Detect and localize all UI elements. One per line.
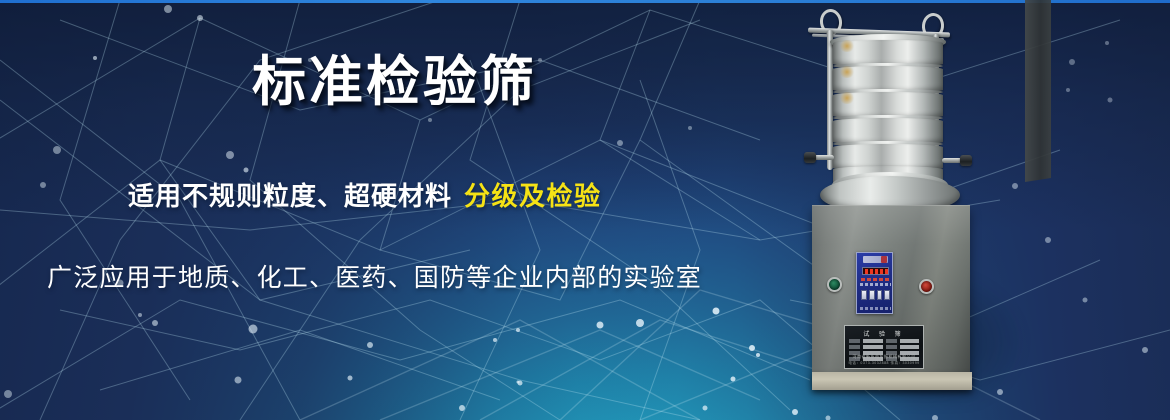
subline-accent-text: 分级及检验 — [464, 181, 602, 211]
clamp-knob-left — [804, 152, 834, 163]
banner-headline: 标准检验筛 — [252, 52, 537, 112]
nameplate-title: 试 验 筛 — [845, 329, 923, 338]
banner-copy: 标准检验筛 适用不规则粒度、超硬材料分级及检验 广泛应用于地质、化工、医药、国防… — [0, 0, 790, 420]
panel-button-row — [861, 290, 890, 300]
sieve-tray-stack — [833, 40, 943, 190]
machine-body-side — [1025, 0, 1051, 182]
indicator-lamp-green-icon — [827, 277, 842, 292]
banner-tagline: 广泛应用于地质、化工、医药、国防等企业内部的实验室 — [47, 258, 702, 294]
sieve-tray — [833, 40, 943, 67]
panel-button — [861, 290, 867, 300]
sieve-tray — [833, 92, 943, 119]
control-panel — [856, 252, 893, 314]
panel-logo — [863, 256, 888, 263]
nameplate-manufacturer: 河南省新乡市东振机械有限公司 — [845, 354, 923, 360]
panel-button — [884, 290, 890, 300]
panel-button — [869, 290, 875, 300]
indicator-lamp-red-icon — [919, 279, 934, 294]
machine-base-foot — [812, 372, 972, 390]
panel-button — [877, 290, 883, 300]
nameplate-contact: 电话：0373-3032888 传真：3030999 — [845, 361, 923, 366]
product-banner: 标准检验筛 适用不规则粒度、超硬材料分级及检验 广泛应用于地质、化工、医药、国防… — [0, 0, 1170, 420]
product-image-test-sieve: 试 验 筛 河南省新乡市东振机械有限公司 电话：0373-3032888 传真：… — [800, 0, 1050, 420]
subline-main-text: 适用不规则粒度、超硬材料 — [128, 181, 452, 211]
machine-nameplate: 试 验 筛 河南省新乡市东振机械有限公司 电话：0373-3032888 传真：… — [844, 325, 924, 369]
banner-subline: 适用不规则粒度、超硬材料分级及检验 — [128, 176, 602, 213]
panel-label-red — [861, 278, 890, 281]
panel-led-display — [862, 267, 889, 275]
sieve-tray — [833, 66, 943, 93]
panel-label-light — [860, 283, 891, 286]
clamp-knob-right — [942, 155, 972, 166]
panel-footer-text — [860, 307, 891, 310]
sieve-tray — [833, 118, 943, 145]
